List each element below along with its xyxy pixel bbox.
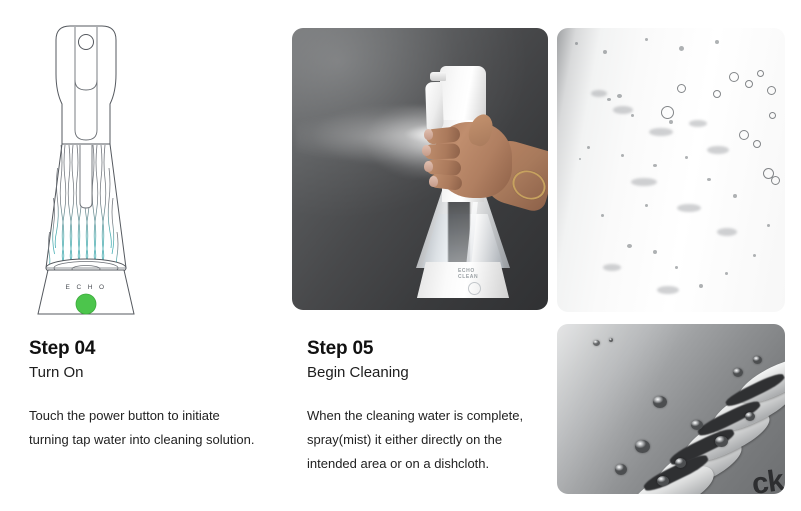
bubble-ring bbox=[713, 90, 721, 98]
bubble-ring bbox=[739, 130, 749, 140]
bubble bbox=[645, 38, 648, 41]
bubble-ring bbox=[661, 106, 674, 119]
bubble bbox=[653, 250, 657, 254]
step-05-body: When the cleaning water is complete, spr… bbox=[307, 404, 537, 476]
bubble bbox=[653, 164, 657, 167]
fingernail bbox=[422, 145, 431, 156]
bubble bbox=[669, 120, 673, 124]
water-droplet bbox=[635, 440, 650, 453]
hand-holding-sprayer-photo: ECHO CLEAN bbox=[292, 28, 548, 310]
bubble bbox=[679, 46, 684, 51]
bubble bbox=[601, 214, 604, 217]
smudge bbox=[677, 204, 701, 212]
step-05-subtitle: Begin Cleaning bbox=[307, 363, 537, 382]
step-05-block: Step 05 Begin Cleaning When the cleaning… bbox=[307, 338, 537, 476]
bubble bbox=[603, 50, 607, 54]
bubble bbox=[699, 284, 703, 288]
bubble bbox=[753, 254, 756, 257]
bubble bbox=[627, 244, 632, 248]
smudge bbox=[689, 120, 707, 127]
bubble-ring bbox=[771, 176, 780, 185]
illustration-brand-label: E C H O bbox=[66, 284, 107, 291]
bubble bbox=[685, 156, 688, 159]
bottle-logo: ECHO CLEAN bbox=[458, 268, 478, 280]
water-droplet bbox=[745, 412, 755, 421]
bubble bbox=[725, 272, 728, 275]
water-droplet bbox=[691, 420, 703, 430]
bubble bbox=[707, 178, 711, 181]
water-droplet bbox=[609, 338, 613, 342]
bubble-ring bbox=[677, 84, 686, 93]
fingernail bbox=[429, 176, 438, 187]
water-droplet bbox=[593, 340, 600, 346]
water-droplet bbox=[715, 436, 728, 447]
water-droplets-macro-photo: ck bbox=[557, 324, 785, 494]
bubble-ring bbox=[729, 72, 739, 82]
bubble bbox=[579, 158, 581, 160]
macro-partial-text: ck bbox=[750, 466, 785, 494]
bubble bbox=[575, 42, 578, 45]
bubble-ring bbox=[753, 140, 761, 148]
bottle-nozzle bbox=[430, 72, 446, 81]
bubble-ring bbox=[767, 86, 776, 95]
smudge bbox=[591, 90, 607, 97]
smudge bbox=[649, 128, 673, 136]
water-droplet bbox=[615, 464, 627, 475]
bubbles-closeup-photo bbox=[557, 28, 785, 312]
water-droplet bbox=[653, 396, 667, 408]
smudge bbox=[707, 146, 729, 154]
water-droplet bbox=[733, 368, 743, 377]
bubble bbox=[733, 194, 737, 198]
bubble bbox=[587, 146, 590, 149]
step-04-title: Step 04 bbox=[29, 338, 259, 360]
water-droplet bbox=[675, 458, 686, 468]
power-button-illustration bbox=[76, 294, 96, 314]
bottle-power-button bbox=[468, 282, 481, 295]
bubble bbox=[645, 204, 648, 207]
water-droplet bbox=[657, 476, 669, 486]
bubble bbox=[767, 224, 770, 227]
step-04-body: Touch the power button to initiate turni… bbox=[29, 404, 259, 452]
bubble bbox=[675, 266, 678, 269]
hand bbox=[420, 112, 546, 228]
smudge bbox=[613, 106, 633, 114]
spray-bottle-illustration: E C H O bbox=[20, 18, 152, 318]
bubble bbox=[621, 154, 624, 157]
bubble-ring bbox=[757, 70, 764, 77]
water-droplet bbox=[753, 356, 762, 364]
bubble-ring bbox=[769, 112, 776, 119]
fingernail bbox=[424, 129, 433, 140]
bubble bbox=[715, 40, 719, 44]
step-04-block: Step 04 Turn On Touch the power button t… bbox=[29, 338, 259, 452]
step-04-subtitle: Turn On bbox=[29, 363, 259, 382]
step-05-title: Step 05 bbox=[307, 338, 537, 360]
smudge bbox=[657, 286, 679, 294]
bubble bbox=[607, 98, 611, 101]
fingernail bbox=[424, 161, 433, 172]
bubble bbox=[617, 94, 622, 98]
bubble bbox=[631, 114, 634, 117]
bottle-logo-sub: CLEAN bbox=[458, 274, 478, 280]
smudge bbox=[717, 228, 737, 236]
smudge bbox=[631, 178, 657, 186]
smudge bbox=[603, 264, 621, 271]
bubble-ring bbox=[745, 80, 753, 88]
